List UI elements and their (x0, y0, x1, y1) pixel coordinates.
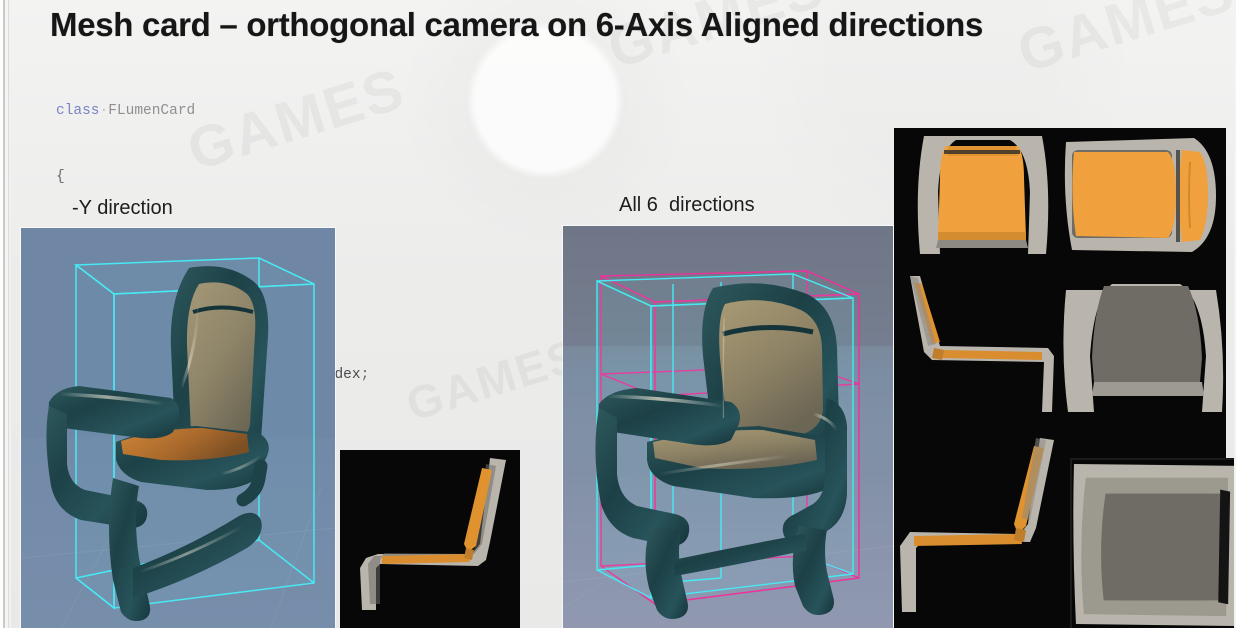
viewport-negative-y[interactable] (21, 228, 335, 628)
code-line: class·FLumenCard (56, 100, 369, 122)
left-film-edge (0, 0, 11, 628)
slide-root: GAMES GAMES GAMES GAMES Mesh card – orth… (0, 0, 1239, 628)
watermark-text: GAMES (1010, 0, 1239, 86)
card-albedo-orange (914, 534, 1022, 546)
card-cell-front[interactable] (894, 128, 1058, 270)
right-film-edge (1234, 0, 1239, 628)
viewport-all-6-directions[interactable] (563, 226, 893, 628)
caption-left-viewport: -Y direction (72, 197, 173, 220)
card-cell-back[interactable] (1060, 272, 1226, 430)
card-albedo-orange (938, 146, 1026, 238)
card-cell-side-right[interactable] (894, 432, 1058, 628)
card-albedo-orange (1072, 152, 1176, 238)
card-cell-side-left[interactable] (894, 272, 1058, 430)
viewport-left-render (21, 228, 335, 628)
card-albedo-orange (1179, 150, 1208, 242)
watermark-text: GAMES (400, 328, 587, 432)
card-cell-top[interactable] (1060, 128, 1226, 270)
card-surface-dark (1092, 286, 1202, 382)
code-line: { (56, 166, 369, 188)
viewport-right-render (563, 226, 893, 628)
caption-right-viewport: All 6 directions (619, 194, 755, 217)
card-cell-bottom[interactable] (1070, 458, 1239, 628)
card-render-side-view (340, 450, 520, 628)
card-inset-negative-y[interactable] (340, 450, 520, 628)
page-title: Mesh card – orthogonal camera on 6-Axis … (50, 6, 983, 44)
